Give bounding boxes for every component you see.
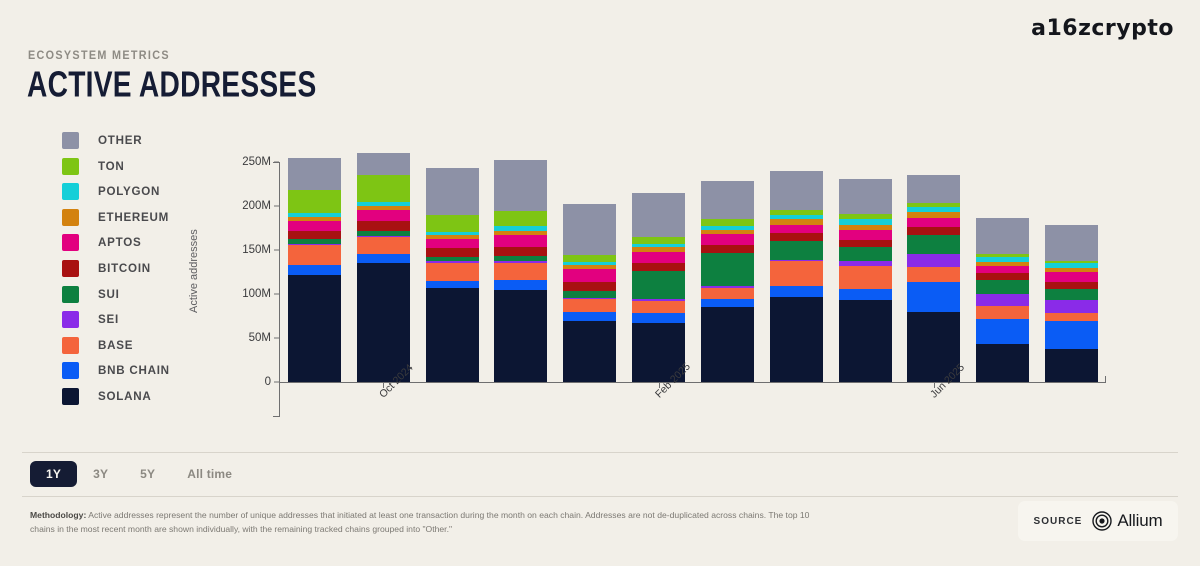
y-tick-mark <box>274 294 279 295</box>
divider-top <box>22 452 1178 453</box>
legend-item-solana[interactable]: SOLANA <box>62 388 170 405</box>
bar-segment-solana <box>563 321 616 382</box>
legend-item-label: BASE <box>98 339 133 352</box>
concentric-circles-icon <box>1092 511 1112 531</box>
bar-segment-bnb-chain <box>1045 321 1098 348</box>
chart-card: a16zcrypto ECOSYSTEM METRICS ACTIVE ADDR… <box>0 0 1200 566</box>
legend-item-bitcoin[interactable]: BITCOIN <box>62 260 170 277</box>
y-tick-label: 250M <box>242 156 271 168</box>
bar-segment-other <box>839 179 892 214</box>
bar-segment-base <box>701 288 754 299</box>
legend-item-label: SEI <box>98 313 119 326</box>
bar-column[interactable] <box>907 175 960 382</box>
bar-segment-bitcoin <box>494 247 547 256</box>
bar-segment-sei <box>907 254 960 266</box>
bar-segment-base <box>770 261 823 286</box>
methodology-text: Active addresses represent the number of… <box>30 510 809 534</box>
y-tick-mark <box>274 162 279 163</box>
bar-segment-base <box>357 237 410 255</box>
legend-item-label: BITCOIN <box>98 262 151 275</box>
bar-column[interactable] <box>288 158 341 382</box>
source-label: SOURCE <box>1034 516 1083 527</box>
bar-column[interactable] <box>357 153 410 382</box>
y-tick-label: 200M <box>242 200 271 212</box>
bar-segment-base <box>839 266 892 289</box>
bar-column[interactable] <box>494 160 547 382</box>
bar-segment-aptos <box>701 234 754 245</box>
bar-segment-ton <box>288 190 341 213</box>
legend-item-label: ETHEREUM <box>98 211 169 224</box>
bar-segment-bnb-chain <box>357 254 410 263</box>
legend-swatch-icon <box>62 158 79 175</box>
legend-item-other[interactable]: OTHER <box>62 132 170 149</box>
legend-item-ethereum[interactable]: ETHEREUM <box>62 209 170 226</box>
bar-segment-solana <box>1045 349 1098 382</box>
y-tick-mark <box>274 206 279 207</box>
bar-segment-bnb-chain <box>563 312 616 322</box>
y-tick-mark <box>274 338 279 339</box>
bar-segment-aptos <box>288 221 341 231</box>
bar-segment-bnb-chain <box>907 282 960 312</box>
plot-area: Active addresses 050M100M150M200M250M Oc… <box>180 128 1120 428</box>
bar-series-group <box>280 128 1106 382</box>
legend-item-label: SUI <box>98 288 120 301</box>
y-axis-cap-bottom <box>273 416 280 417</box>
time-range-selector[interactable]: 1Y3Y5YAll time <box>30 461 248 487</box>
bar-segment-ton <box>357 175 410 201</box>
bar-segment-solana <box>426 288 479 382</box>
bar-segment-aptos <box>426 239 479 248</box>
y-tick-mark <box>274 382 279 383</box>
y-tick-label: 0 <box>265 376 271 388</box>
bar-segment-bitcoin <box>632 263 685 271</box>
legend-item-label: TON <box>98 160 125 173</box>
bar-segment-solana <box>701 307 754 382</box>
bar-segment-sui <box>701 253 754 286</box>
divider-bottom <box>22 496 1178 497</box>
legend-item-polygon[interactable]: POLYGON <box>62 183 170 200</box>
legend-item-label: SOLANA <box>98 390 151 403</box>
bar-segment-aptos <box>632 252 685 263</box>
bar-segment-other <box>701 181 754 220</box>
bar-column[interactable] <box>976 218 1029 382</box>
bar-segment-bitcoin <box>976 273 1029 280</box>
bar-segment-bnb-chain <box>632 313 685 323</box>
legend-item-bnb-chain[interactable]: BNB CHAIN <box>62 362 170 379</box>
bar-column[interactable] <box>632 193 685 382</box>
bar-segment-bitcoin <box>701 245 754 253</box>
bar-segment-bitcoin <box>839 240 892 248</box>
bar-segment-other <box>426 168 479 215</box>
bar-column[interactable] <box>563 204 616 382</box>
bar-segment-bitcoin <box>770 233 823 241</box>
range-button-5y[interactable]: 5Y <box>124 461 171 487</box>
bar-segment-ton <box>426 215 479 232</box>
source-badge: SOURCE Allium <box>1018 501 1178 541</box>
bar-segment-bitcoin <box>563 282 616 291</box>
bar-segment-aptos <box>494 235 547 247</box>
bar-segment-other <box>907 175 960 202</box>
bar-segment-solana <box>494 290 547 382</box>
bar-segment-bnb-chain <box>839 289 892 300</box>
legend-item-sei[interactable]: SEI <box>62 311 170 328</box>
legend-item-sui[interactable]: SUI <box>62 286 170 303</box>
bar-segment-solana <box>357 263 410 382</box>
eyebrow-label: ECOSYSTEM METRICS <box>28 50 170 62</box>
bar-segment-other <box>976 218 1029 254</box>
bar-segment-aptos <box>357 210 410 221</box>
bar-segment-aptos <box>839 230 892 240</box>
range-button-all-time[interactable]: All time <box>171 461 248 487</box>
bar-segment-other <box>770 171 823 210</box>
bar-segment-other <box>288 158 341 191</box>
bar-segment-sui <box>907 235 960 254</box>
legend-swatch-icon <box>62 209 79 226</box>
bar-segment-bitcoin <box>357 221 410 231</box>
bar-segment-sei <box>1045 300 1098 312</box>
bar-segment-bitcoin <box>907 227 960 235</box>
legend-swatch-icon <box>62 183 79 200</box>
bar-segment-bnb-chain <box>701 299 754 307</box>
allium-name: Allium <box>1117 511 1162 531</box>
y-tick-label: 100M <box>242 288 271 300</box>
bar-segment-sui <box>976 280 1029 294</box>
chart-legend: OTHERTONPOLYGONETHEREUMAPTOSBITCOINSUISE… <box>62 132 170 405</box>
bar-segment-base <box>494 263 547 280</box>
bar-segment-bnb-chain <box>494 280 547 290</box>
bar-segment-aptos <box>770 225 823 234</box>
allium-logo: Allium <box>1092 511 1162 531</box>
bar-segment-base <box>632 301 685 313</box>
y-tick-label: 150M <box>242 244 271 256</box>
bar-segment-base <box>976 306 1029 318</box>
legend-swatch-icon <box>62 260 79 277</box>
bar-segment-aptos <box>563 269 616 281</box>
bar-segment-solana <box>288 275 341 382</box>
range-button-3y[interactable]: 3Y <box>77 461 124 487</box>
bar-segment-other <box>632 193 685 237</box>
bar-segment-sui <box>1045 289 1098 300</box>
legend-item-label: BNB CHAIN <box>98 364 170 377</box>
page-title: ACTIVE ADDRESSES <box>27 64 317 105</box>
legend-item-label: POLYGON <box>98 185 160 198</box>
methodology-note: Methodology: Active addresses represent … <box>30 509 830 537</box>
range-button-1y[interactable]: 1Y <box>30 461 77 487</box>
legend-item-label: OTHER <box>98 134 142 147</box>
bar-segment-bnb-chain <box>288 265 341 275</box>
bar-segment-aptos <box>907 218 960 228</box>
bar-segment-other <box>494 160 547 211</box>
bar-segment-sui <box>839 247 892 260</box>
legend-swatch-icon <box>62 286 79 303</box>
y-tick-label: 50M <box>249 332 271 344</box>
y-tick-mark <box>274 250 279 251</box>
bar-segment-sei <box>976 294 1029 306</box>
legend-swatch-icon <box>62 362 79 379</box>
legend-item-aptos[interactable]: APTOS <box>62 234 170 251</box>
bar-segment-solana <box>976 344 1029 382</box>
bar-segment-other <box>563 204 616 255</box>
bar-segment-bnb-chain <box>770 286 823 297</box>
bar-column[interactable] <box>701 181 754 382</box>
bar-segment-sui <box>563 291 616 298</box>
bar-segment-ton <box>701 219 754 226</box>
bar-segment-aptos <box>976 266 1029 273</box>
bar-segment-bnb-chain <box>426 281 479 288</box>
legend-item-base[interactable]: BASE <box>62 337 170 354</box>
bar-column[interactable] <box>770 171 823 382</box>
a16zcrypto-logo: a16zcrypto <box>1031 16 1174 41</box>
bar-segment-bitcoin <box>288 231 341 240</box>
bar-segment-solana <box>770 297 823 382</box>
y-axis-title: Active addresses <box>188 229 200 313</box>
legend-swatch-icon <box>62 337 79 354</box>
bar-segment-solana <box>839 300 892 382</box>
bar-column[interactable] <box>839 179 892 382</box>
bar-segment-base <box>426 263 479 281</box>
bar-segment-base <box>563 299 616 311</box>
bar-column[interactable] <box>426 168 479 382</box>
bar-segment-base <box>1045 313 1098 322</box>
legend-item-label: APTOS <box>98 236 141 249</box>
bar-segment-ton <box>632 237 685 244</box>
bar-segment-other <box>357 153 410 175</box>
bar-segment-ton <box>494 211 547 226</box>
bar-column[interactable] <box>1045 225 1098 382</box>
bar-segment-bitcoin <box>426 248 479 257</box>
bar-segment-sui <box>632 271 685 299</box>
legend-swatch-icon <box>62 234 79 251</box>
legend-swatch-icon <box>62 311 79 328</box>
bar-segment-base <box>288 245 341 265</box>
bar-segment-sui <box>770 241 823 259</box>
bar-segment-aptos <box>1045 272 1098 282</box>
methodology-label: Methodology: <box>30 510 86 520</box>
legend-swatch-icon <box>62 132 79 149</box>
bar-segment-bitcoin <box>1045 282 1098 289</box>
legend-item-ton[interactable]: TON <box>62 158 170 175</box>
bar-segment-base <box>907 267 960 282</box>
bar-segment-other <box>1045 225 1098 261</box>
bar-segment-bnb-chain <box>976 319 1029 345</box>
legend-swatch-icon <box>62 388 79 405</box>
